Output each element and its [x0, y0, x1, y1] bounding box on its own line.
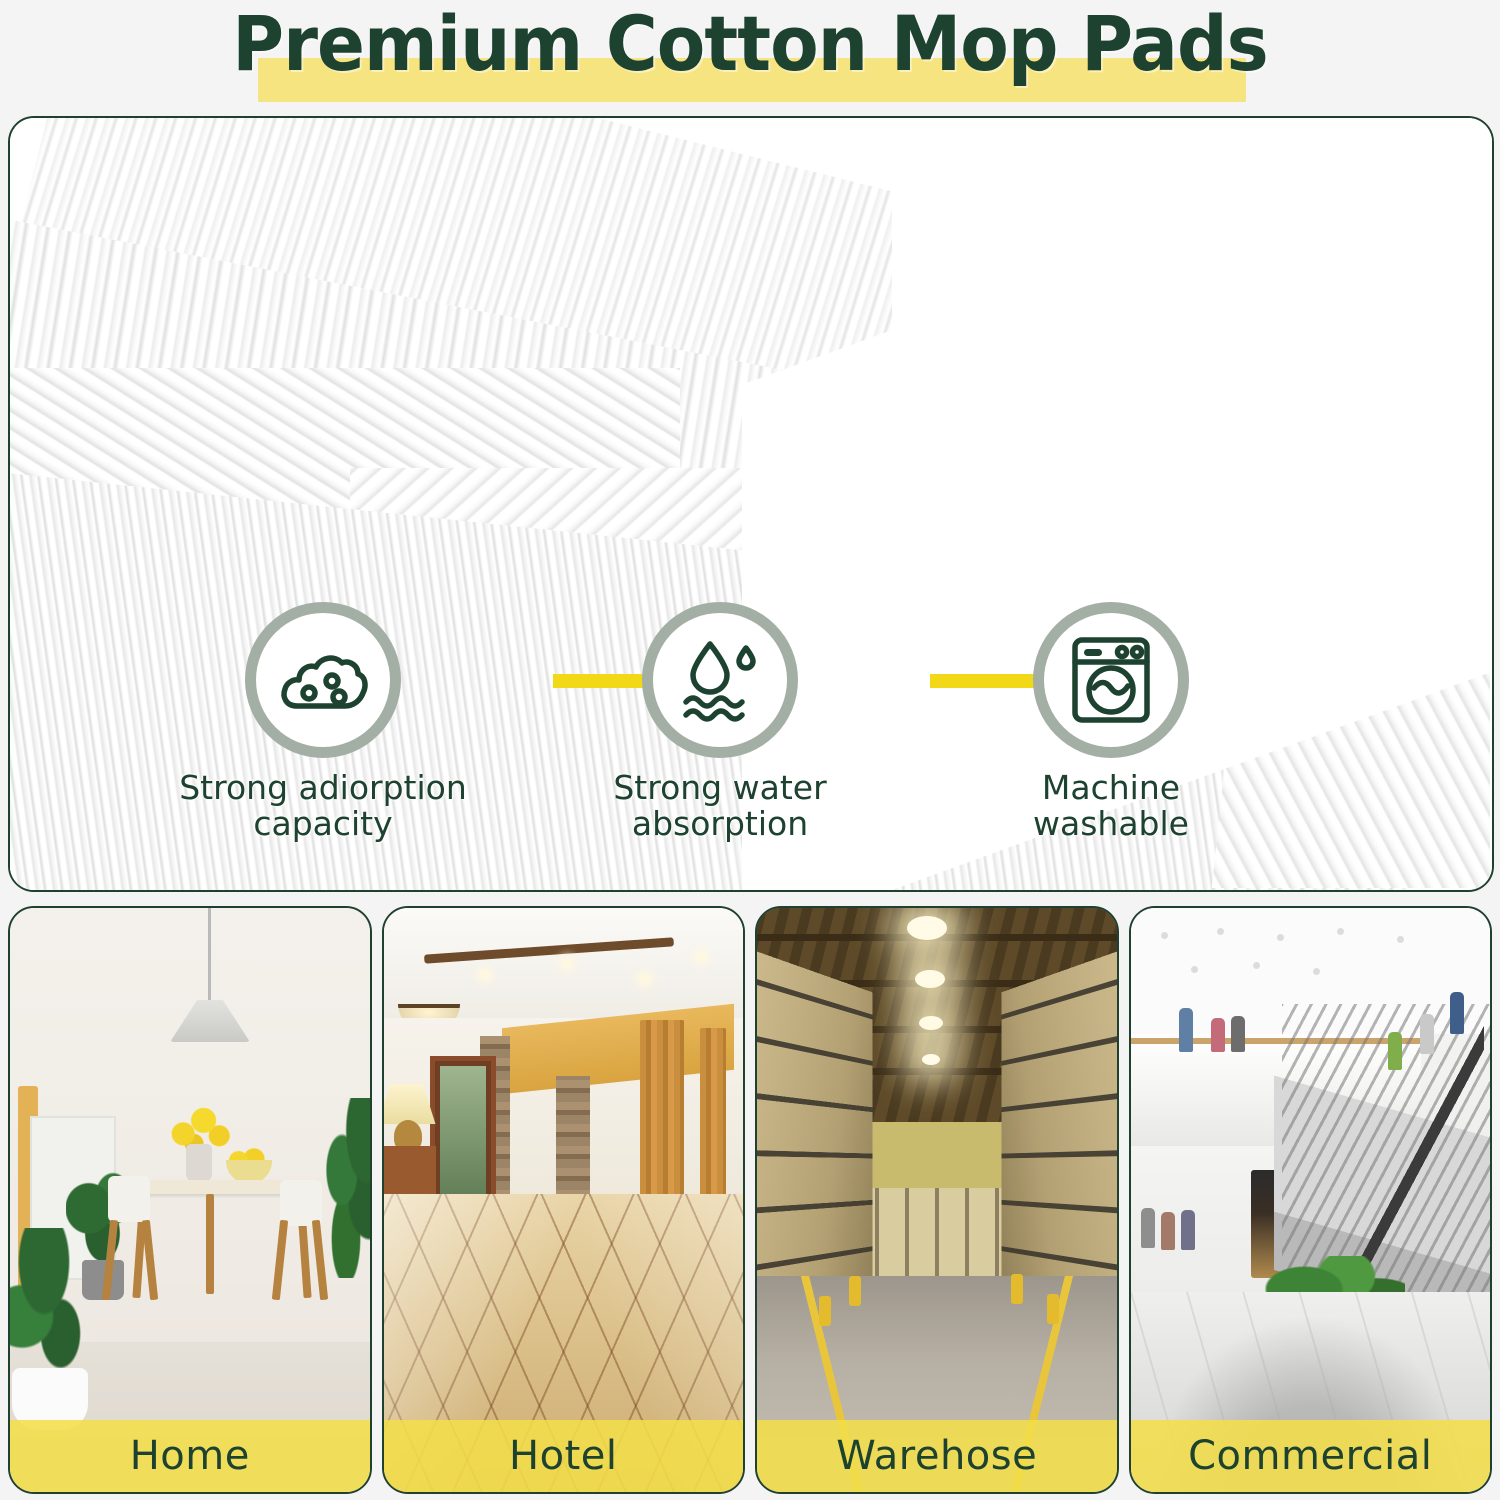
- card-label: Commercial: [1188, 1433, 1432, 1479]
- card-caption: Hotel: [384, 1420, 744, 1492]
- ceiling-downlight: [1277, 934, 1284, 941]
- chair-back: [108, 1176, 150, 1222]
- feature-water-absorption: Strong water absorption: [555, 602, 885, 842]
- pendant-cord: [208, 908, 211, 1004]
- hotel-lobby-photo: [384, 908, 744, 1492]
- feature-badge-row: Strong adiorption capacity Strong water …: [10, 602, 1492, 872]
- sponge-adsorption-icon: [277, 640, 369, 720]
- ceiling-downlight: [1313, 968, 1320, 975]
- floor-bollard: [819, 1296, 831, 1326]
- high-bay-light: [919, 1016, 943, 1030]
- card-label: Hotel: [509, 1433, 617, 1479]
- dining-chair-right: [268, 1180, 330, 1302]
- feature-icon-circle: [245, 602, 401, 758]
- card-caption: Commercial: [1131, 1420, 1491, 1492]
- chair-back: [280, 1180, 322, 1226]
- shopper-crowd: [1161, 1212, 1175, 1250]
- shopper: [1211, 1018, 1225, 1052]
- use-case-card-row: Home: [8, 906, 1492, 1494]
- hero-product-panel: Strong adiorption capacity Strong water …: [8, 116, 1494, 892]
- feature-icon-circle: [1033, 602, 1189, 758]
- floor-bollard: [849, 1276, 861, 1306]
- ceiling-downlight: [1161, 932, 1168, 939]
- use-case-card-commercial[interactable]: Commercial: [1129, 906, 1493, 1494]
- high-bay-light: [922, 1054, 940, 1065]
- flower-vase: [186, 1144, 212, 1182]
- floor-bollard: [1047, 1294, 1059, 1324]
- ceiling-light: [640, 974, 650, 984]
- shopper: [1231, 1016, 1245, 1052]
- card-label: Home: [130, 1433, 250, 1479]
- ceiling-downlight: [1337, 928, 1344, 935]
- ceiling-downlight: [1217, 928, 1224, 935]
- wood-column: [700, 1028, 726, 1214]
- escalator-rider: [1388, 1032, 1402, 1070]
- feature-label: Strong adiorption capacity: [158, 770, 488, 842]
- floor-bollard: [1011, 1274, 1023, 1304]
- shopper-crowd: [1141, 1208, 1155, 1248]
- dining-chair-left: [102, 1176, 164, 1302]
- chair-leg: [102, 1220, 118, 1300]
- feature-label: Strong water absorption: [555, 770, 885, 842]
- wood-column: [640, 1020, 684, 1218]
- page-title: Premium Cotton Mop Pads: [53, 2, 1448, 86]
- chair-leg: [142, 1220, 158, 1300]
- ceiling-light: [696, 952, 706, 962]
- shopper: [1179, 1008, 1193, 1052]
- shopper-crowd: [1181, 1210, 1195, 1250]
- feature-adsorption: Strong adiorption capacity: [158, 602, 488, 842]
- shopping-mall-photo: [1131, 908, 1491, 1492]
- feature-icon-circle: [642, 602, 798, 758]
- feature-label: Machine washable: [946, 770, 1276, 842]
- use-case-card-hotel[interactable]: Hotel: [382, 906, 746, 1494]
- photo-white-space-corner: [892, 116, 1494, 398]
- stone-column: [556, 1076, 590, 1212]
- use-case-card-home[interactable]: Home: [8, 906, 372, 1494]
- escalator-rider: [1450, 992, 1464, 1034]
- dining-room-photo: [10, 908, 370, 1492]
- card-caption: Home: [10, 1420, 370, 1492]
- use-case-card-warehouse[interactable]: Warehose: [755, 906, 1119, 1494]
- page-header: Premium Cotton Mop Pads: [0, 0, 1500, 112]
- ceiling-light: [562, 958, 572, 968]
- ceiling-light: [480, 970, 490, 980]
- pendant-lamp: [170, 1000, 250, 1042]
- water-droplet-absorption-icon: [676, 638, 764, 722]
- feature-machine-washable: Machine washable: [946, 602, 1276, 842]
- high-bay-light: [915, 970, 945, 988]
- washing-machine-icon: [1070, 636, 1152, 724]
- chair-leg: [312, 1220, 328, 1300]
- door-glass: [440, 1066, 486, 1208]
- table-leg: [206, 1194, 214, 1294]
- ceiling-downlight: [1253, 962, 1260, 969]
- high-bay-light: [907, 916, 947, 940]
- card-label: Warehose: [836, 1433, 1037, 1479]
- escalator-rider: [1420, 1014, 1434, 1054]
- ceiling-downlight: [1191, 966, 1198, 973]
- card-caption: Warehose: [757, 1420, 1117, 1492]
- ceiling-downlight: [1397, 936, 1404, 943]
- warehouse-aisle-photo: [757, 908, 1117, 1492]
- chair-leg: [272, 1220, 288, 1300]
